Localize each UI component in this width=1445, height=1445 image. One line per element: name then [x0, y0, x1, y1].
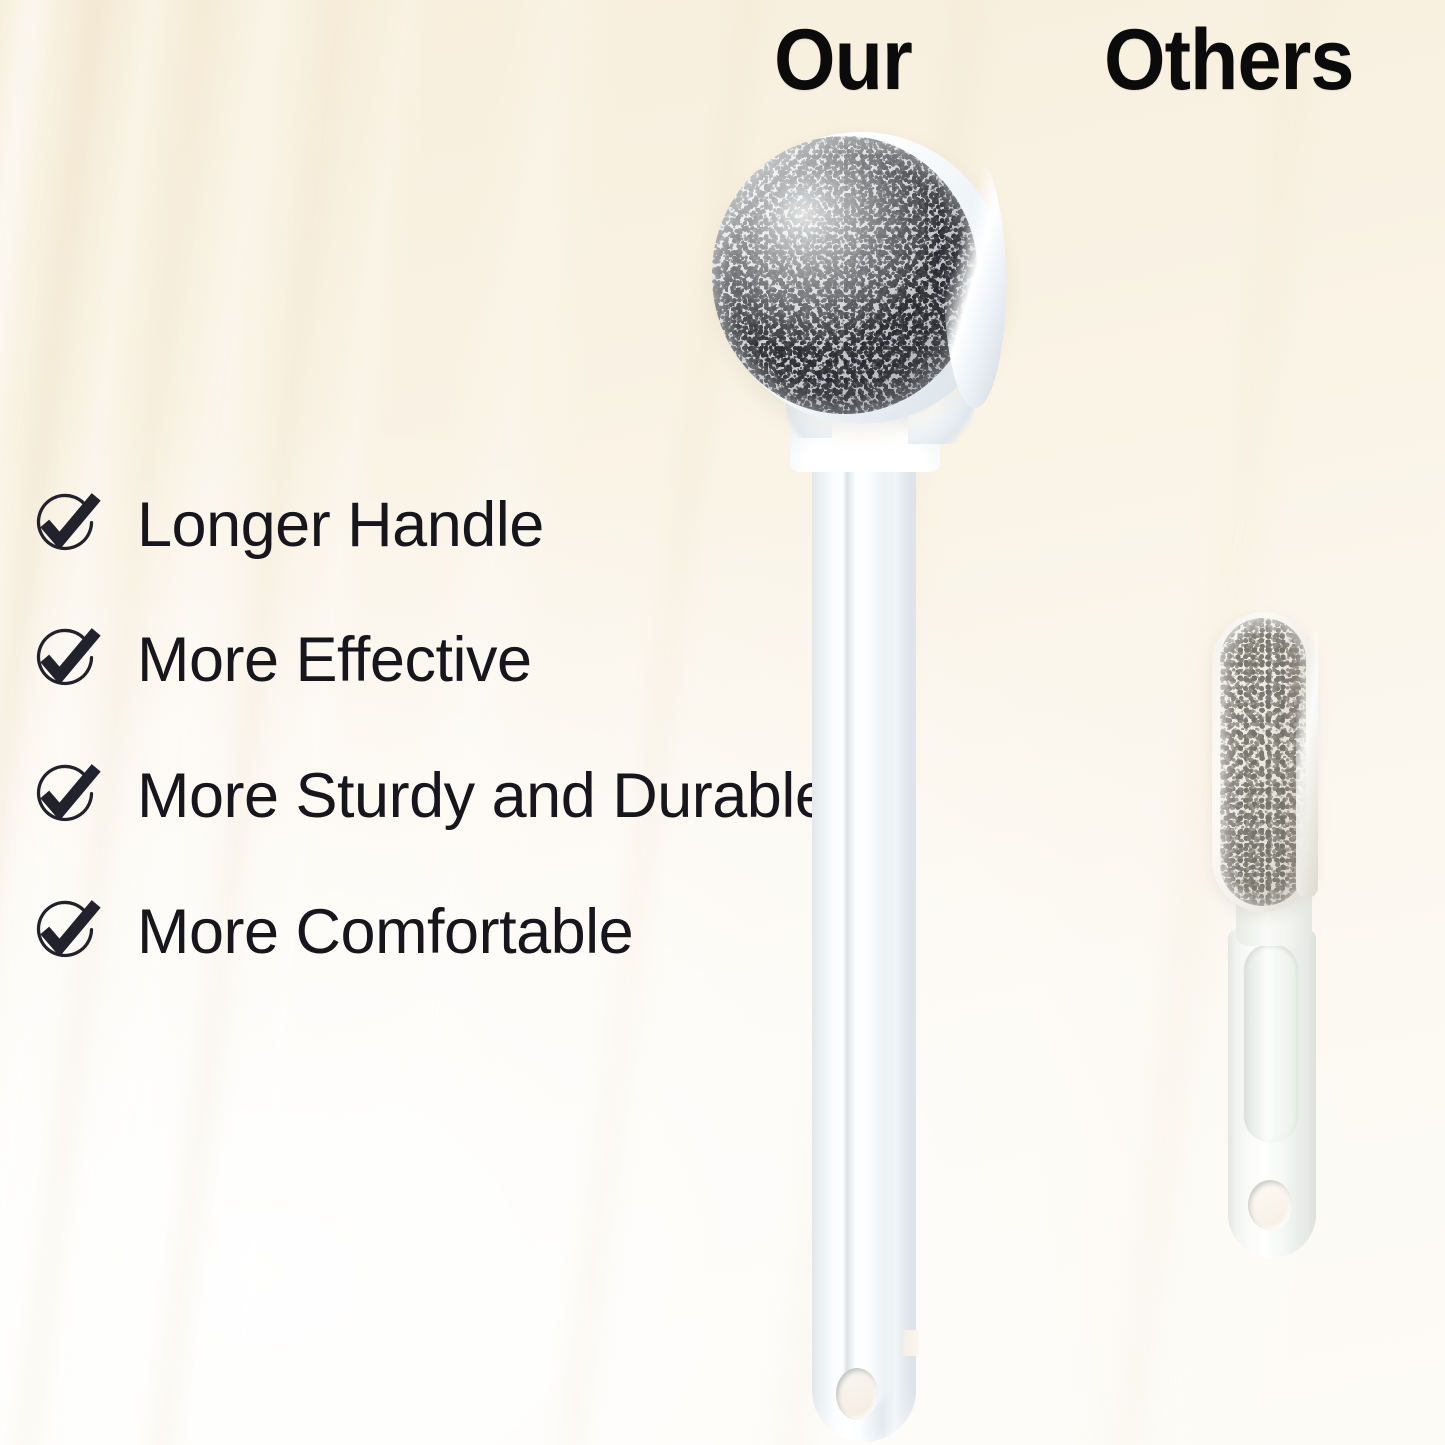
- pad-edge-highlight-others: [1296, 626, 1318, 898]
- comparison-image-canvas: Our Others Longer Handle More Effective …: [0, 0, 1445, 1445]
- pumice-pad-others: [1220, 618, 1306, 906]
- hang-hole-others: [1248, 1180, 1292, 1230]
- handle-grip-recess-others: [1244, 944, 1298, 1142]
- product-image-others: [0, 0, 1445, 1445]
